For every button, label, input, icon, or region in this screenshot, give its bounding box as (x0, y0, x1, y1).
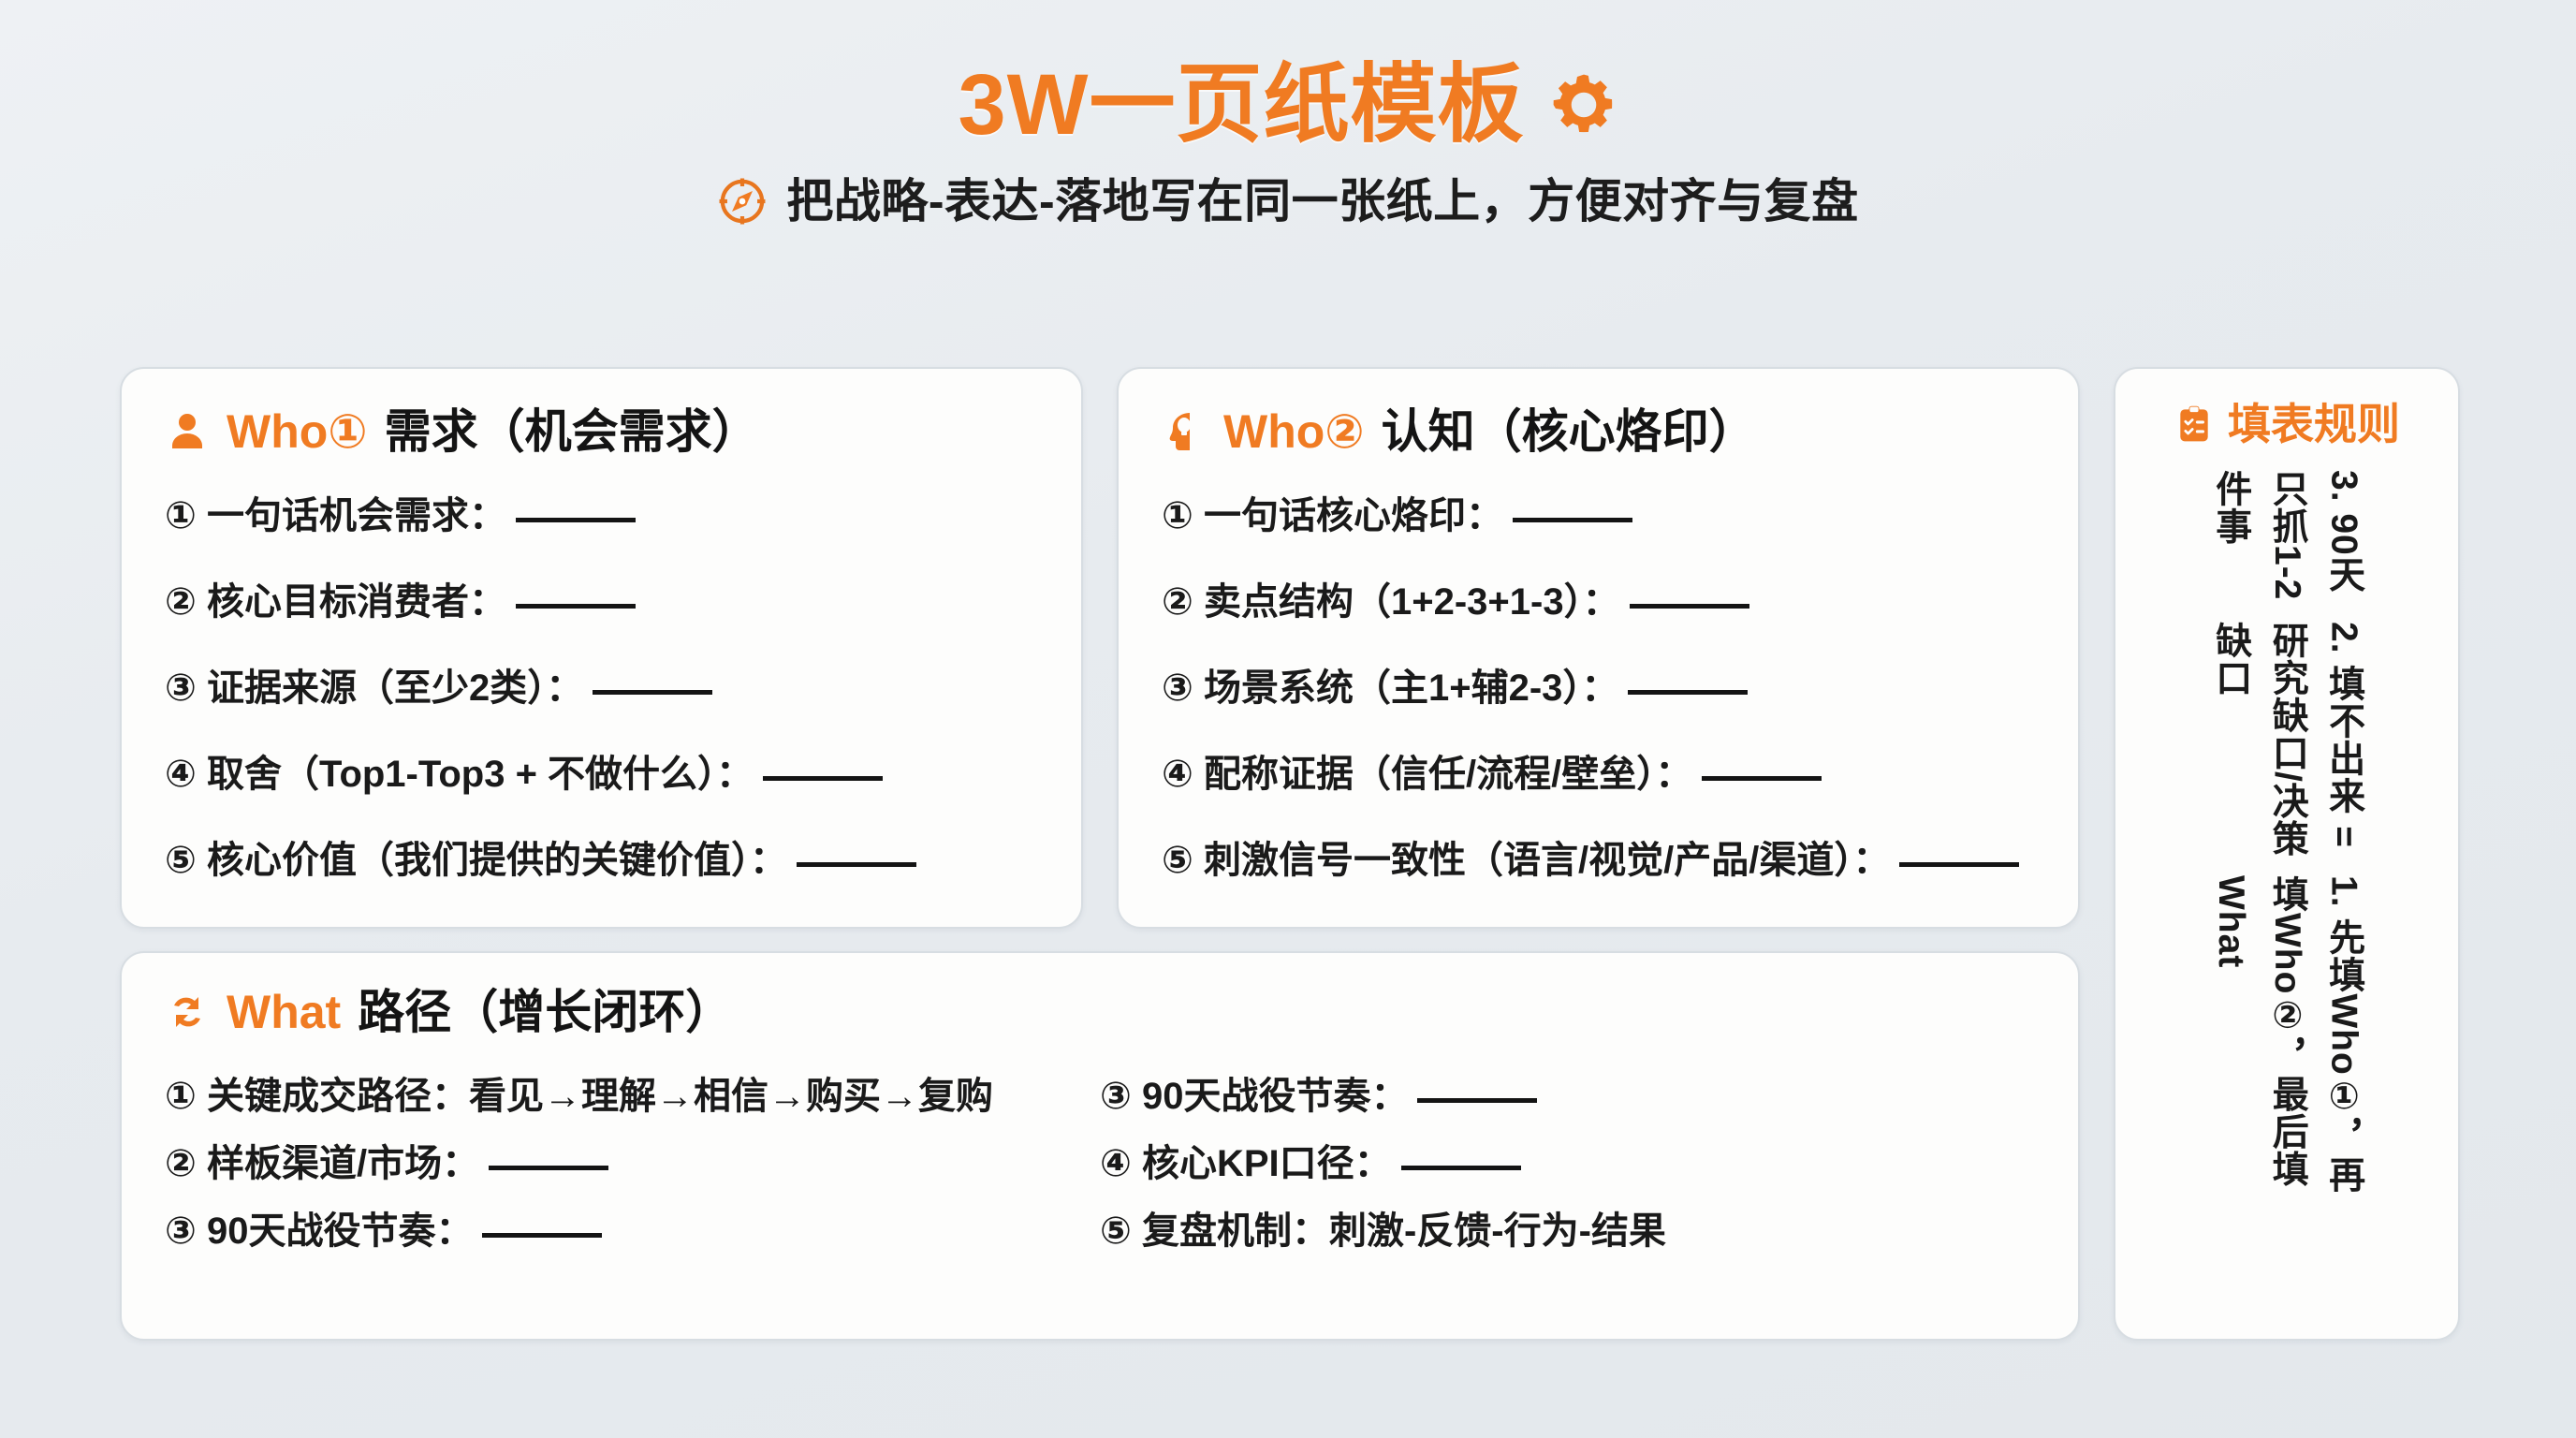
card-who2: Who② 认知（核心烙印） ① 一句话核心烙印： ② 卖点结构（1+2-3+1-… (1117, 367, 2080, 929)
rule-item: 2. 填不出来 = 研究缺口/决策缺口 (2198, 622, 2375, 875)
left-zone: Who① 需求（机会需求） ① 一句话机会需求： ② 核心目标消费者： ③ 证据… (120, 367, 2080, 1341)
item-label: ③ 证据来源（至少2类）： (165, 668, 583, 709)
page-subtitle: 把战略-表达-落地写在同一张纸上，方便对齐与复盘 (786, 178, 1858, 225)
item-label: ① 一句话机会需求： (165, 495, 506, 536)
rule-item: 1. 先填Who①，再填Who②，最后填What (2198, 875, 2375, 1210)
compass-icon (717, 176, 768, 227)
card-who1-header: Who① 需求（机会需求） (165, 408, 1038, 455)
card-what-header: What 路径（增长闭环） (165, 989, 2035, 1035)
fill-blank[interactable] (1628, 690, 1748, 695)
item-label: ③ 90天战役节奏： (165, 1211, 473, 1252)
item-label: ③ 场景系统（主1+辅2-3）： (1162, 668, 1618, 709)
item-label: ④ 配称证据（信任/流程/壁垒）： (1162, 754, 1692, 795)
item-label: ⑤ 核心价值（我们提供的关键价值）： (165, 840, 787, 881)
poster-page: 3W一页纸模板 把战略-表达-落地写在同一张纸上，方便对齐与复盘 (0, 0, 2576, 1438)
list-item: ③ 90天战役节奏： (165, 1208, 1100, 1255)
fill-blank[interactable] (797, 862, 916, 867)
rules-panel-title: 填表规则 (2228, 403, 2400, 446)
rule-item: 3. 90天只抓1-2件事 (2198, 470, 2375, 622)
list-item: ① 关键成交路径：看见→理解→相信→购买→复购 (165, 1073, 1100, 1120)
card-who1: Who① 需求（机会需求） ① 一句话机会需求： ② 核心目标消费者： ③ 证据… (120, 367, 1083, 929)
card-who1-key: Who① (227, 408, 368, 455)
item-label: ④ 取舍（Top1-Top3 + 不做什么）： (165, 754, 754, 795)
fill-blank[interactable] (1401, 1166, 1521, 1170)
rules-panel-header: 填表规则 (2173, 403, 2400, 446)
list-item: ① 一句话核心烙印： (1162, 492, 2035, 539)
fill-blank[interactable] (1630, 604, 1749, 609)
list-item: ⑤ 核心价值（我们提供的关键价值）： (165, 837, 1038, 884)
head-lightbulb-icon (1162, 409, 1207, 454)
item-label: ② 卖点结构（1+2-3+1-3）： (1162, 581, 1620, 623)
fill-blank[interactable] (1513, 518, 1632, 522)
fill-blank[interactable] (482, 1233, 602, 1238)
list-item: ④ 核心KPI口径： (1100, 1140, 2035, 1187)
fill-blank[interactable] (489, 1166, 608, 1170)
card-who1-title: 需求（机会需求） (385, 408, 759, 455)
rules-panel: 填表规则 3. 90天只抓1-2件事 2. 填不出来 = 研究缺口/决策缺口 1… (2114, 367, 2460, 1341)
card-who1-items: ① 一句话机会需求： ② 核心目标消费者： ③ 证据来源（至少2类）： ④ 取舍… (165, 492, 1038, 884)
card-what-right-column: ③ 90天战役节奏： ④ 核心KPI口径： ⑤ 复盘机制：刺激-反馈-行为-结果 (1100, 1073, 2035, 1275)
item-label: ④ 核心KPI口径： (1100, 1143, 1392, 1184)
fill-blank[interactable] (1702, 776, 1822, 781)
card-what-key: What (227, 989, 341, 1035)
page-header: 3W一页纸模板 把战略-表达-落地写在同一张纸上，方便对齐与复盘 (0, 0, 2576, 227)
list-item: ② 卖点结构（1+2-3+1-3）： (1162, 579, 2035, 625)
list-item: ④ 取舍（Top1-Top3 + 不做什么）： (165, 751, 1038, 798)
list-item: ② 核心目标消费者： (165, 579, 1038, 625)
card-what-left-column: ① 关键成交路径：看见→理解→相信→购买→复购 ② 样板渠道/市场： ③ 90天… (165, 1073, 1100, 1275)
item-label: ② 核心目标消费者： (165, 581, 506, 623)
item-label: ⑤ 刺激信号一致性（语言/视觉/产品/渠道）： (1162, 840, 1890, 881)
top-card-row: Who① 需求（机会需求） ① 一句话机会需求： ② 核心目标消费者： ③ 证据… (120, 367, 2080, 929)
card-what-columns: ① 关键成交路径：看见→理解→相信→购买→复购 ② 样板渠道/市场： ③ 90天… (165, 1073, 2035, 1275)
cycle-icon (165, 990, 210, 1034)
gear-icon (1549, 70, 1618, 139)
title-row: 3W一页纸模板 (0, 62, 2576, 148)
fill-blank[interactable] (1899, 862, 2019, 867)
list-item: ③ 90天战役节奏： (1100, 1073, 2035, 1120)
body-area: Who① 需求（机会需求） ① 一句话机会需求： ② 核心目标消费者： ③ 证据… (120, 367, 2460, 1341)
page-title: 3W一页纸模板 (958, 62, 1524, 148)
item-label: ② 样板渠道/市场： (165, 1143, 479, 1184)
item-label: ③ 90天战役节奏： (1100, 1076, 1408, 1117)
item-label: ① 一句话核心烙印： (1162, 495, 1503, 536)
card-who2-header: Who② 认知（核心烙印） (1162, 408, 2035, 455)
fill-blank[interactable] (516, 518, 636, 522)
fill-blank[interactable] (763, 776, 883, 781)
fill-blank[interactable] (1417, 1098, 1537, 1103)
list-item: ① 一句话机会需求： (165, 492, 1038, 539)
item-label: ① 关键成交路径：看见→理解→相信→购买→复购 (165, 1076, 993, 1117)
fill-blank[interactable] (516, 604, 636, 609)
list-item: ⑤ 复盘机制：刺激-反馈-行为-结果 (1100, 1208, 2035, 1255)
list-item: ④ 配称证据（信任/流程/壁垒）： (1162, 751, 2035, 798)
list-item: ② 样板渠道/市场： (165, 1140, 1100, 1187)
list-item: ③ 证据来源（至少2类）： (165, 665, 1038, 712)
card-what: What 路径（增长闭环） ① 关键成交路径：看见→理解→相信→购买→复购 ② … (120, 951, 2080, 1341)
rules-list: 3. 90天只抓1-2件事 2. 填不出来 = 研究缺口/决策缺口 1. 先填W… (2198, 470, 2375, 1210)
list-item: ③ 场景系统（主1+辅2-3）： (1162, 665, 2035, 712)
card-what-title: 路径（增长闭环） (358, 989, 732, 1035)
item-label: ⑤ 复盘机制：刺激-反馈-行为-结果 (1100, 1211, 1666, 1252)
clipboard-checklist-icon (2173, 404, 2215, 445)
card-who2-items: ① 一句话核心烙印： ② 卖点结构（1+2-3+1-3）： ③ 场景系统（主1+… (1162, 492, 2035, 884)
subtitle-row: 把战略-表达-落地写在同一张纸上，方便对齐与复盘 (0, 176, 2576, 227)
fill-blank[interactable] (593, 690, 712, 695)
person-icon (165, 409, 210, 454)
list-item: ⑤ 刺激信号一致性（语言/视觉/产品/渠道）： (1162, 837, 2035, 884)
card-who2-title: 认知（核心烙印） (1382, 408, 1756, 455)
card-who2-key: Who② (1223, 408, 1365, 455)
